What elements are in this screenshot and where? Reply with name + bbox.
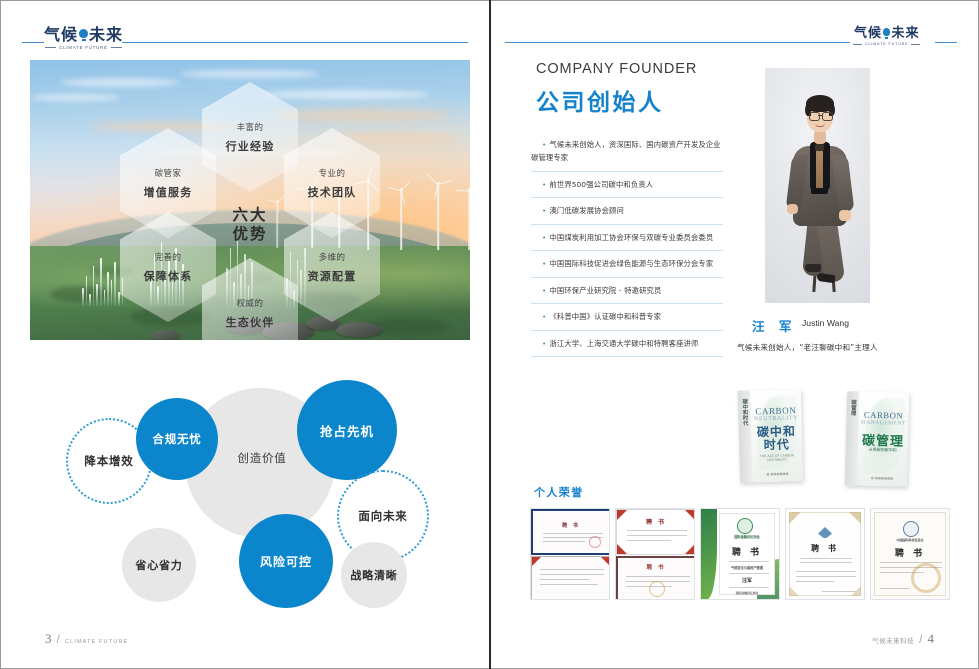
list-item: 前世界500强公司碳中和负责人 [531,172,723,198]
book-subtitle-2: 从零碳到碳中和 [858,446,908,453]
list-item: 气候未来创始人，资深国际、国内碳资产开发及企业碳管理专家 [531,132,723,172]
certificate-heading: 聘 书 [719,545,775,558]
footer-caption-left: CLIMATE FUTURE [65,639,128,645]
credential-text: 澳门低碳发展协会顾问 [531,204,723,217]
certificate-heading: 聘 书 [786,543,864,554]
logo-text-cn-b: 未来 [89,27,123,43]
certificate-field: 气候变化与碳资产管理 [719,565,775,570]
book-subtitle-1: THE AGE OF CARBON NEUTRALITY [751,453,802,462]
book-title-cn-1: 碳中和时代 [751,425,803,452]
certificate-thumbnail[interactable]: 聘 书 [785,508,865,600]
certificate-org: 中国国际科技促进会 [871,538,949,542]
bubble-center-label: 创造价值 [225,448,299,468]
logo-tagline-left: CLIMATE FUTURE [59,45,108,51]
bubble-compliance[interactable]: 合规无忧 [136,398,218,480]
hexagon-lower-left-line2: 保障体系 [144,268,193,284]
list-item: 中国国际科技促进会绿色能源与生态环保分会专家 [531,251,723,277]
footer-right: 气候未来科技 / 4 [872,631,934,647]
footer-caption-right: 气候未来科技 [872,636,914,645]
logo-tagline-right: CLIMATE FUTURE [865,42,908,46]
page-title-cn: 公司创始人 [536,83,664,117]
certificate-thumbnail[interactable]: 聘 书 聘 书 [615,508,695,600]
hexagon-upper-left-line1: 碳管家 [155,167,182,179]
certificate-thumbnail[interactable]: 国际金融论坛协会 聘 书 气候变化与碳资产管理 汪军 国际金融论坛协会 [700,508,780,600]
certificate-heading: 聘 书 [533,522,609,529]
logo-climate-future-right: 气候 未来 CLIMATE FUTURE [853,27,920,46]
founder-credentials-list: 气候未来创始人，资深国际、国内碳资产开发及企业碳管理专家 前世界500强公司碳中… [531,132,723,357]
certificate-thumbnail[interactable]: 聘 书 [530,508,610,600]
lightbulb-icon [79,29,88,41]
hexagon-lower-left: 完善的 保障体系 [120,212,216,322]
bubble-worry-free[interactable]: 省心省力 [122,528,196,602]
hexagon-upper-left-line2: 增值服务 [144,184,193,200]
header-rule-right-long [505,42,850,43]
footer-page-number-right: 4 [928,631,935,647]
page-gutter-divider [489,0,491,669]
bubble-first-mover[interactable]: 抢占先机 [297,380,397,480]
hexagon-diagram: 丰富的 行业经验 碳管家 增值服务 专业的 技术团队 完善的 保障体系 多维的 … [30,60,470,340]
list-item: 浙江大学、上海交通大学碳中和特聘客座讲师 [531,331,723,357]
footer-slash-right: / [919,632,922,646]
list-item: 中国环保产业研究院 - 特邀研究员 [531,278,723,304]
bubble-risk-control[interactable]: 风险可控 [239,514,333,608]
hexagon-bottom-line1: 权威的 [237,297,264,309]
hexagon-center-line1: 六大 [232,206,267,225]
founder-name-en: Justin Wang [802,318,849,328]
hexagon-upper-right-line2: 技术团队 [308,184,357,200]
certificate-issuer: 国际金融论坛协会 [719,591,775,595]
honors-section-title: 个人荣誉 [534,484,584,500]
founder-role: 气候未来创始人，“老汪聊碳中和”主理人 [737,342,878,353]
logo-text-cn-a: 气候 [854,27,882,40]
footer-page-number-left: 3 [45,631,52,647]
hexagon-center-line2: 优势 [232,225,267,244]
header-rule-right-short [935,42,957,43]
hexagon-lower-right-line1: 多维的 [319,251,346,263]
hexagon-upper-right-line1: 专业的 [319,167,346,179]
hexagon-lower-right-line2: 资源配置 [308,268,357,284]
hero-landscape-photo: 丰富的 行业经验 碳管家 增值服务 专业的 技术团队 完善的 保障体系 多维的 … [30,60,470,340]
book-spine-text-2: 碳管理 [849,399,857,415]
header-rule-left-short [22,42,44,43]
credential-text: 《科普中国》认证碳中和科普专家 [531,310,723,323]
certificate-heading: 聘 书 [617,517,695,526]
value-bubble-diagram: 创造价值 降本增效 合规无忧 抢占先机 面向未来 省心省力 风险可控 战略清晰 [30,370,470,620]
credential-text: 中国煤炭利用加工协会环保与双碳专业委员会委员 [531,231,723,244]
founder-name-cn: 汪 军 [752,316,796,335]
hexagon-top-line2: 行业经验 [226,138,275,154]
list-item: 《科普中国》认证碳中和科普专家 [531,304,723,330]
credential-text: 浙江大学、上海交通大学碳中和特聘客座讲师 [531,337,723,350]
book-publisher-2: ■ ■■■■■■ [857,475,907,480]
list-item: 澳门低碳发展协会顾问 [531,198,723,224]
hexagon-lower-right: 多维的 资源配置 [284,212,380,322]
hexagon-bottom-line2: 生态伙伴 [226,314,275,330]
lightbulb-icon [883,28,891,39]
credential-text: 前世界500强公司碳中和负责人 [531,178,723,191]
book-publisher-1: ■ ■■■■■■ [752,471,803,476]
credential-text: 气候未来创始人，资深国际、国内碳资产开发及企业碳管理专家 [531,138,723,165]
list-item: 中国煤炭利用加工协会环保与双碳专业委员会委员 [531,225,723,251]
certificates-gallery: 聘 书 聘 书 [530,508,954,600]
book-cover-carbon-management: 碳管理 CARBON MANAGEMENT 碳管理 从零碳到碳中和 ■ ■■■■… [845,391,909,487]
hexagon-top-line1: 丰富的 [237,121,264,133]
certificate-heading: 聘 书 [871,546,949,559]
book-cover-carbon-neutrality: 碳中和时代 CARBON NEUTRALITY 碳中和时代 THE AGE OF… [738,389,803,483]
logo-text-cn-a: 气候 [44,27,78,43]
certificate-org: 国际金融论坛协会 [719,534,775,539]
page-title-en: COMPANY FOUNDER [536,61,697,77]
hexagon-center: 六大 优势 [202,170,298,280]
brochure-spread: 气候 未来 CLIMATE FUTURE [0,0,979,669]
book-title-en-2b: MANAGEMENT [858,420,908,427]
certificate-name: 汪军 [719,577,775,584]
certificate-heading: 聘 书 [618,563,694,571]
logo-text-cn-b: 未来 [891,27,919,40]
founder-portrait-photo [765,68,870,303]
credential-text: 中国国际科技促进会绿色能源与生态环保分会专家 [531,257,723,270]
footer-slash-left: / [57,632,60,646]
certificate-thumbnail[interactable]: 中国国际科技促进会 聘 书 [870,508,950,600]
credential-text: 中国环保产业研究院 - 特邀研究员 [531,284,723,297]
footer-left: 3 / CLIMATE FUTURE [45,631,128,647]
book-spine-text-1: 碳中和时代 [740,399,749,426]
header-rule-left-long [122,42,468,43]
hexagon-lower-left-line1: 完善的 [155,251,182,263]
logo-climate-future-left: 气候 未来 CLIMATE FUTURE [44,27,123,50]
bubble-clear-strategy[interactable]: 战略清晰 [341,542,407,608]
